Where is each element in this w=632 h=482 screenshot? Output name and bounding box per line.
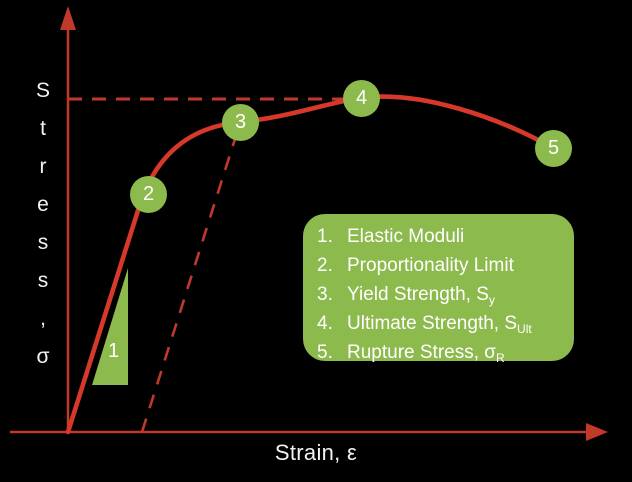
marker-label-3: 3 <box>235 111 246 134</box>
legend-item-number: 5. <box>317 339 347 366</box>
legend-item-label: Proportionality Limit <box>347 252 514 281</box>
marker-circle-2: 2 <box>130 176 167 213</box>
y-axis-char: e <box>37 186 49 224</box>
legend-item-number: 1. <box>317 223 347 250</box>
legend-item-label: Rupture Stress, σR <box>347 339 505 368</box>
y-axis-char: r <box>40 148 47 186</box>
legend-item-number: 3. <box>317 281 347 308</box>
legend-item: 3. Yield Strength, Sy <box>317 281 574 310</box>
y-axis-char: σ <box>37 338 50 376</box>
y-axis-arrow-icon <box>60 6 76 30</box>
marker-circle-5: 5 <box>535 130 572 167</box>
y-axis-label: S t r e s s , σ <box>24 72 62 376</box>
marker-circle-3: 3 <box>222 104 259 141</box>
x-axis-label: Strain, ε <box>0 440 632 466</box>
legend-item: 2. Proportionality Limit <box>317 252 574 281</box>
legend-item-number: 2. <box>317 252 347 279</box>
legend-item-label: Yield Strength, Sy <box>347 281 495 310</box>
stress-strain-figure: S t r e s s , σ Strain, ε 1 2 3 4 5 1. E… <box>0 0 632 482</box>
marker-label-1: 1 <box>108 340 119 363</box>
y-axis-char: , <box>40 300 46 338</box>
legend-item: 1. Elastic Moduli <box>317 223 574 252</box>
slope-triangle-shape <box>92 268 128 385</box>
legend-box: 1. Elastic Moduli 2. Proportionality Lim… <box>303 214 574 361</box>
x-axis-arrow-icon <box>586 423 608 441</box>
marker-label-4: 4 <box>356 87 367 110</box>
marker-circle-4: 4 <box>343 80 380 117</box>
legend-item-label: Elastic Moduli <box>347 223 464 252</box>
legend-item: 5. Rupture Stress, σR <box>317 339 574 368</box>
legend-item-label: Ultimate Strength, SUlt <box>347 310 532 339</box>
y-axis-char: s <box>38 224 49 262</box>
y-axis-char: S <box>36 72 50 110</box>
marker-label-2: 2 <box>143 183 154 206</box>
y-axis-char: s <box>38 262 49 300</box>
legend-item: 4. Ultimate Strength, SUlt <box>317 310 574 339</box>
y-axis-char: t <box>40 110 46 148</box>
marker-label-5: 5 <box>548 137 559 160</box>
legend-item-number: 4. <box>317 310 347 337</box>
